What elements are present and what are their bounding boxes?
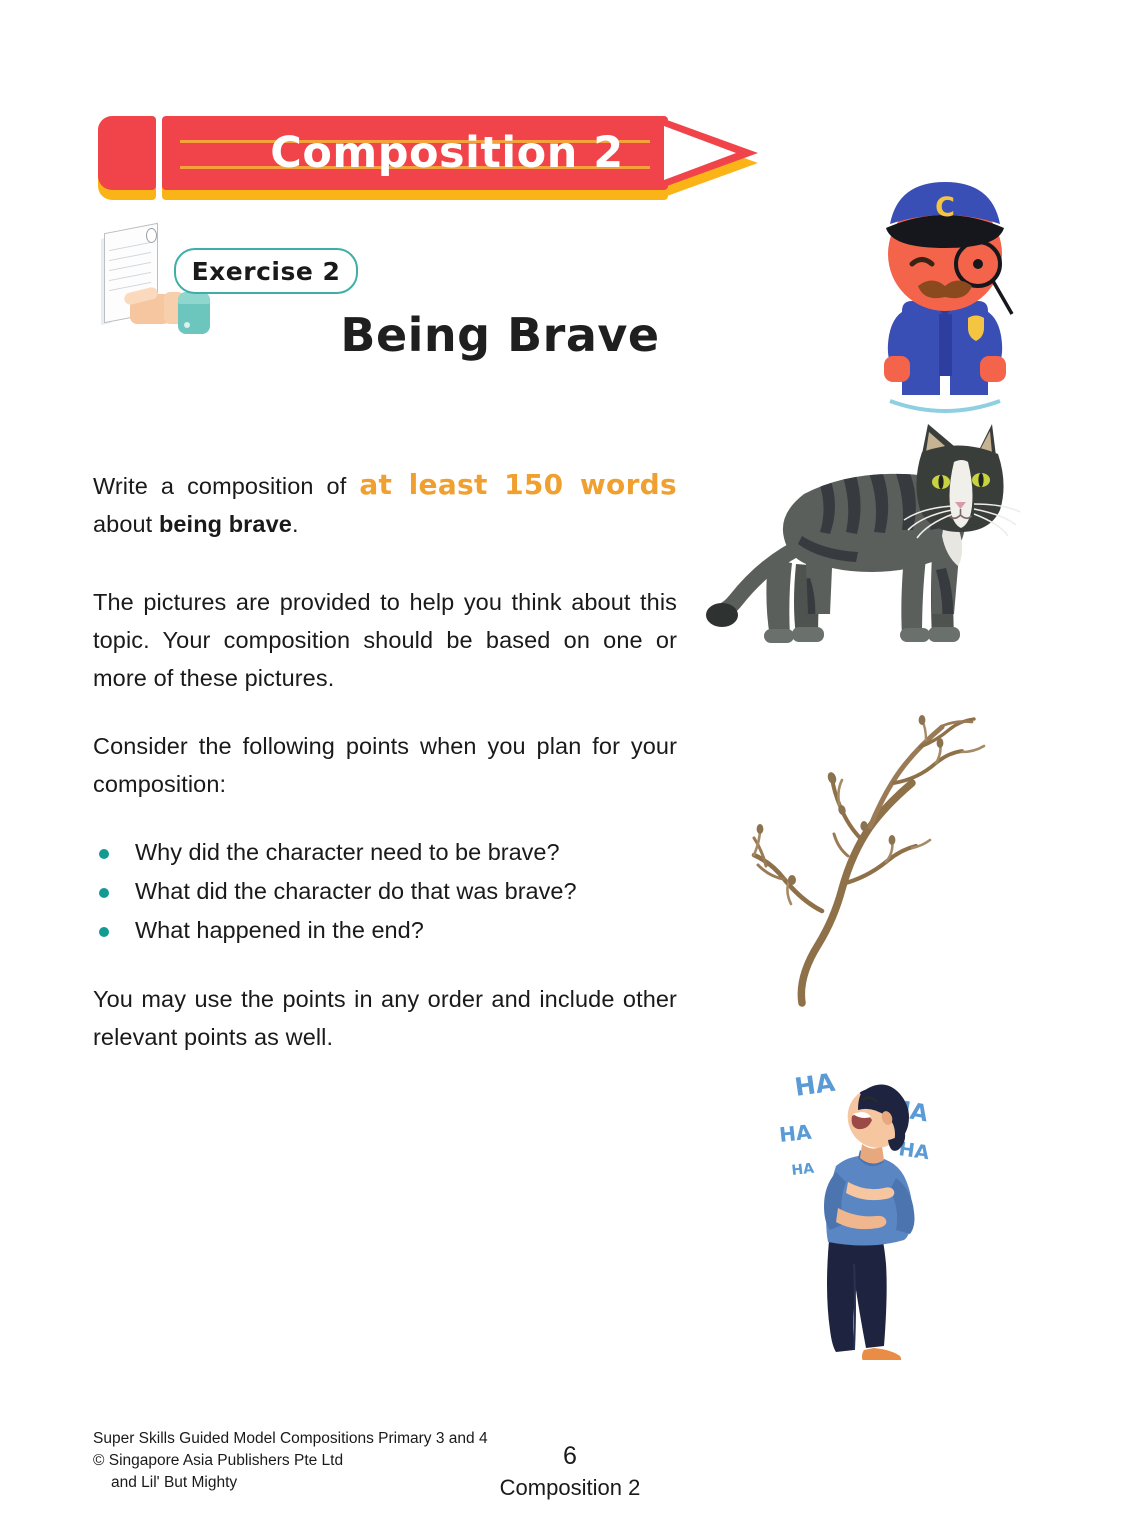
instruction-1-post: . bbox=[292, 511, 299, 537]
instruction-1-mid: about bbox=[93, 511, 159, 537]
topic-bold: being brave bbox=[159, 511, 292, 537]
credit-line-3: and Lil' But Mighty bbox=[93, 1472, 488, 1494]
cat-hind-paw-far bbox=[764, 629, 794, 643]
pencil-eraser bbox=[98, 116, 156, 190]
planning-point-label: What did the character do that was brave… bbox=[135, 878, 577, 904]
necktie bbox=[939, 314, 952, 376]
notepad-ring bbox=[146, 228, 157, 243]
instruction-1-pre: Write a composition of bbox=[93, 473, 359, 499]
hand-icon bbox=[124, 286, 186, 332]
cat-front-paw-far bbox=[900, 628, 930, 642]
bullet-dot-icon bbox=[99, 888, 109, 898]
bullet-dot-icon bbox=[99, 849, 109, 859]
instruction-paragraph-3: Consider the following points when you p… bbox=[93, 727, 677, 803]
cat-front-paw-near bbox=[928, 627, 960, 642]
ha-text: HA bbox=[778, 1120, 813, 1147]
laughing-man-illustration: HA HA HA HA HA bbox=[778, 1060, 978, 1360]
instruction-paragraph-1: Write a composition of at least 150 word… bbox=[93, 466, 677, 543]
bullet-dot-icon bbox=[99, 927, 109, 937]
list-item: What happened in the end? bbox=[93, 911, 677, 950]
shoe bbox=[862, 1348, 901, 1360]
credit-line-2: © Singapore Asia Publishers Pte Ltd bbox=[93, 1452, 343, 1469]
cat-pupil-right bbox=[978, 473, 983, 487]
planning-point-label: What happened in the end? bbox=[135, 917, 424, 943]
left-hand bbox=[884, 356, 910, 382]
page-section-label: Composition 2 bbox=[480, 1472, 660, 1504]
banner-title: Composition 2 bbox=[162, 116, 722, 190]
instruction-paragraph-2: The pictures are provided to help you th… bbox=[93, 583, 677, 697]
trouser-crease bbox=[854, 1264, 855, 1350]
composition-banner: Composition 2 bbox=[98, 116, 758, 200]
exercise-badge: Exercise 2 bbox=[174, 248, 358, 294]
cat-hind-leg-far bbox=[766, 559, 792, 637]
branch-strokes bbox=[754, 719, 984, 1003]
monocle-eye bbox=[973, 259, 983, 269]
page-number: 6 bbox=[480, 1440, 660, 1472]
planning-point-label: Why did the character need to be brave? bbox=[135, 839, 560, 865]
detective-policeman-illustration: C bbox=[860, 168, 1030, 413]
ha-text: HA bbox=[791, 1161, 815, 1179]
right-hand bbox=[980, 356, 1006, 382]
grey-tabby-cat-illustration bbox=[706, 424, 1024, 656]
cap-letter: C bbox=[935, 192, 955, 223]
word-count-highlight: at least 150 words bbox=[359, 468, 677, 501]
monocle-chain bbox=[993, 281, 1012, 314]
planning-points-list: Why did the character need to be brave? … bbox=[93, 833, 677, 950]
ground-arc bbox=[890, 401, 1000, 411]
footer-credit: Super Skills Guided Model Compositions P… bbox=[93, 1428, 488, 1494]
credit-line-1: Super Skills Guided Model Compositions P… bbox=[93, 1430, 488, 1447]
instruction-paragraph-4: You may use the points in any order and … bbox=[93, 980, 677, 1056]
list-item: What did the character do that was brave… bbox=[93, 872, 677, 911]
cat-tail-tip bbox=[706, 603, 738, 627]
ha-text: HA bbox=[793, 1068, 838, 1102]
instructions-column: Write a composition of at least 150 word… bbox=[93, 466, 677, 1086]
bare-tree-branch-illustration bbox=[744, 698, 992, 1008]
trousers bbox=[827, 1228, 887, 1352]
page-title: Being Brave bbox=[300, 308, 700, 362]
list-item: Why did the character need to be brave? bbox=[93, 833, 677, 872]
cat-hind-paw-near bbox=[792, 627, 824, 642]
cat-pupil-left bbox=[938, 475, 943, 489]
legs-gap bbox=[940, 376, 950, 401]
eraser-block-highlight bbox=[184, 322, 190, 328]
footer-page-number: 6 Composition 2 bbox=[480, 1440, 660, 1504]
